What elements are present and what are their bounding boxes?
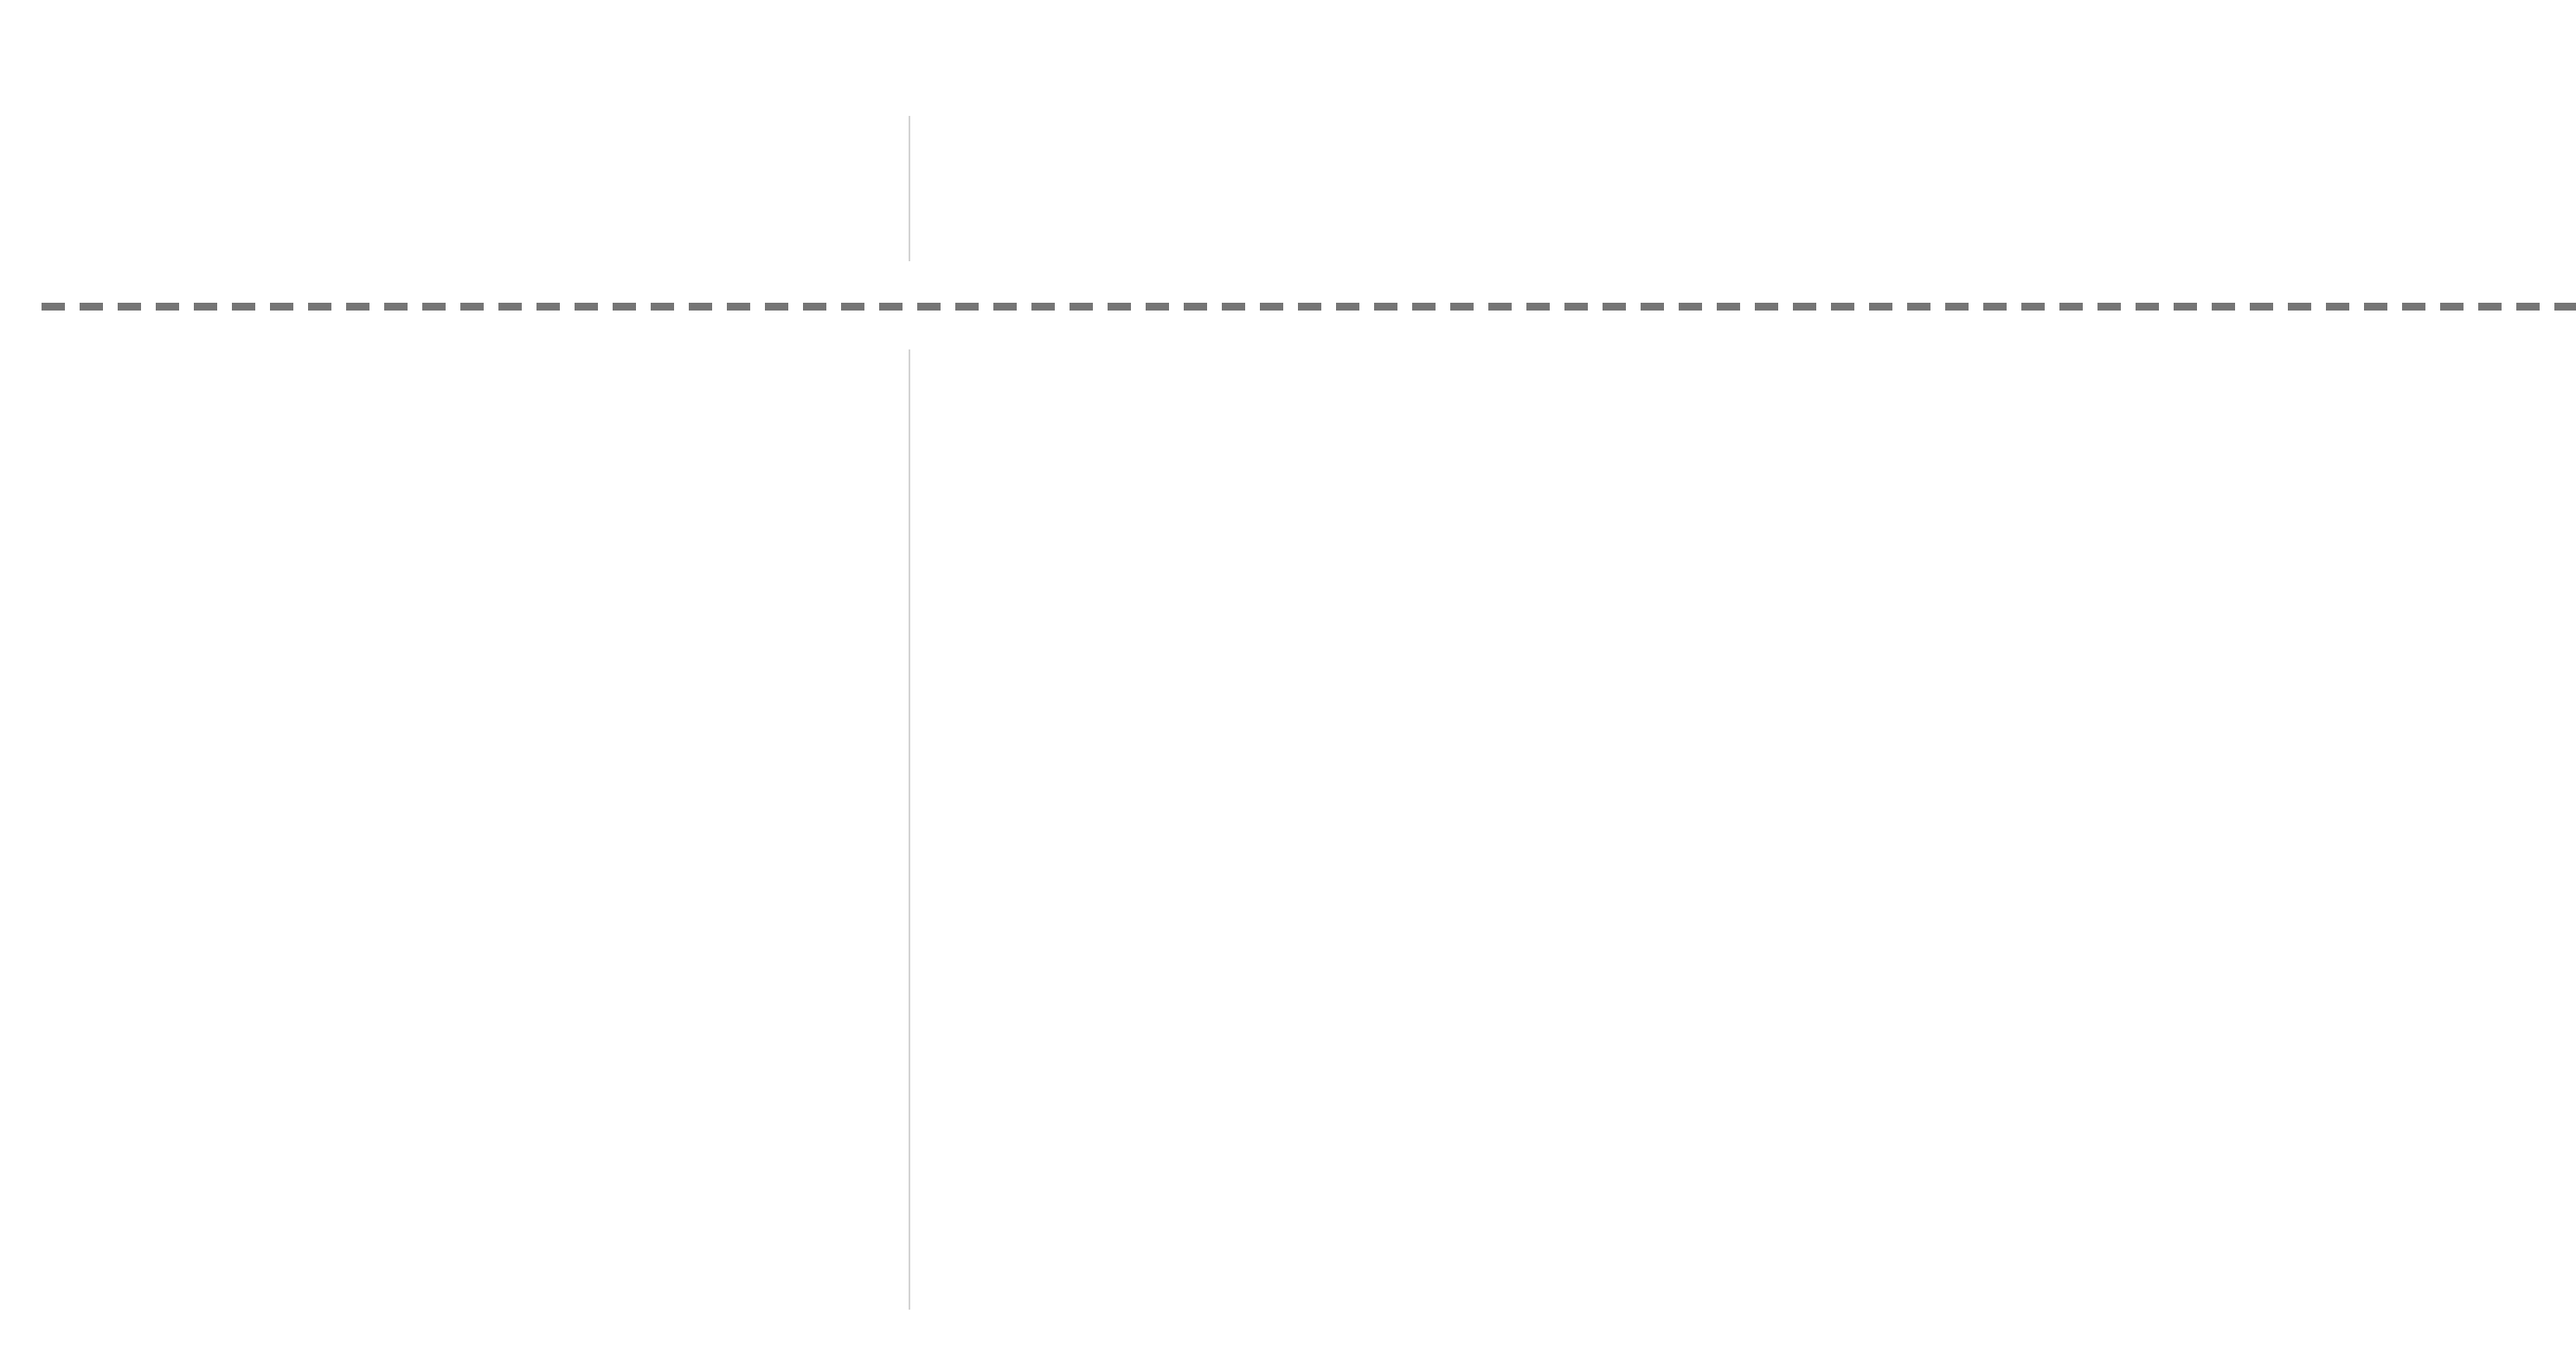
legend-swatch-indirect-icon <box>1313 1077 1333 1099</box>
top-chart-panel <box>0 0 2576 285</box>
bottom-chart-x-axis <box>0 1322 2576 1365</box>
legend-item-indirect[interactable] <box>1313 1077 1342 1099</box>
legend-swatch-direct-icon <box>1235 1077 1256 1099</box>
top-chart-x-axis <box>0 227 2576 270</box>
legend <box>0 1077 2576 1099</box>
section-divider <box>42 303 2576 311</box>
legend-item-direct[interactable] <box>1235 1077 1264 1099</box>
bottom-chart-axis-line <box>909 349 910 1310</box>
bottom-chart-panel <box>0 329 2576 1202</box>
